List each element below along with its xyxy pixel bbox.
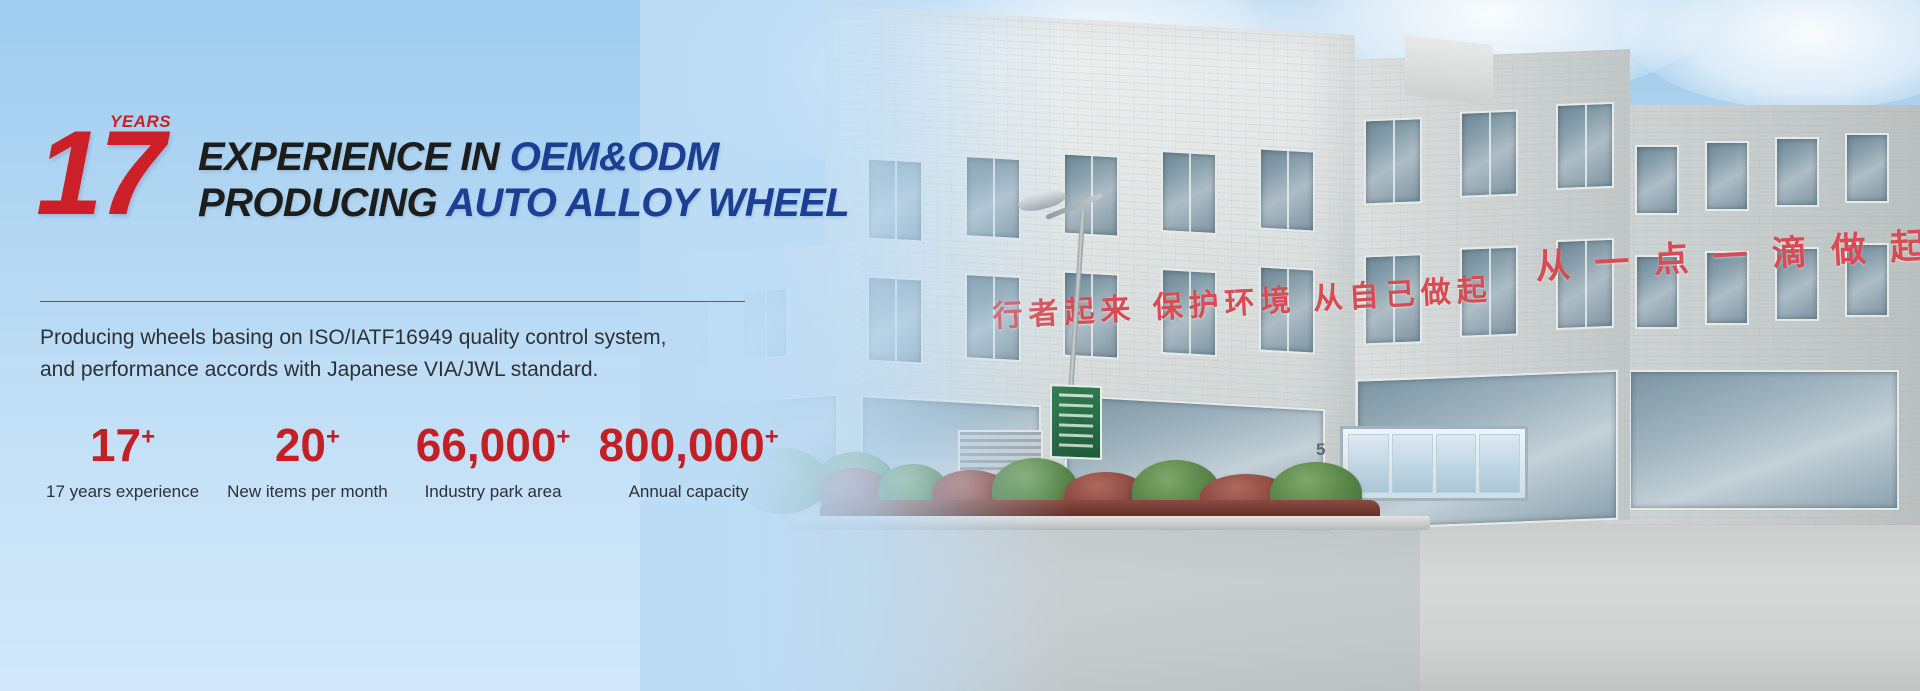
description-text: Producing wheels basing on ISO/IATF16949… [40, 322, 666, 385]
roof-structure [1405, 35, 1493, 105]
window [1845, 133, 1889, 203]
years-number: 17 [36, 118, 161, 228]
window [1775, 137, 1819, 207]
window [1635, 145, 1679, 215]
notice-panel [1479, 434, 1520, 493]
headline-line-2: PRODUCING AUTO ALLOY WHEEL [198, 180, 849, 226]
stat-number: 66,000 [416, 419, 557, 471]
stat-number: 800,000 [598, 419, 764, 471]
stat-number: 20 [275, 419, 326, 471]
stat-item: 800,000+ Annual capacity [584, 422, 792, 502]
stat-suffix: + [556, 424, 570, 451]
stat-label: 17 years experience [46, 482, 199, 502]
promo-banner: 行者起来 保护环境 从自己做起 从 一 点 一 滴 做 起 5 [0, 0, 1920, 691]
banner-content: YEARS 17 EXPERIENCE IN OEM&ODM PRODUCING… [0, 0, 820, 691]
stat-value: 17+ [46, 422, 199, 468]
stat-suffix: + [141, 424, 155, 451]
green-wall-sign [1050, 384, 1102, 460]
headline-line-1-blue: OEM&ODM [510, 135, 719, 179]
stat-label: New items per month [227, 482, 388, 502]
stat-item: 66,000+ Industry park area [402, 422, 585, 502]
stat-item: 17+ 17 years experience [32, 422, 213, 502]
divider-rule [40, 301, 745, 302]
kerb-edge [790, 516, 1430, 530]
stat-suffix: + [326, 424, 340, 451]
window [1161, 150, 1217, 235]
headline-line-2-blue: AUTO ALLOY WHEEL [446, 181, 849, 225]
stat-number: 17 [90, 419, 141, 471]
headline-line-2-dark: PRODUCING [198, 181, 437, 225]
stat-label: Annual capacity [598, 482, 778, 502]
stat-suffix: + [765, 424, 779, 451]
window [1705, 141, 1749, 211]
description-line-1: Producing wheels basing on ISO/IATF16949… [40, 322, 666, 354]
window [1259, 147, 1315, 232]
window [1364, 117, 1422, 205]
description-line-2: and performance accords with Japanese VI… [40, 354, 666, 386]
window [867, 276, 923, 365]
building-far [1605, 105, 1920, 525]
headline-lines: EXPERIENCE IN OEM&ODM PRODUCING AUTO ALL… [198, 104, 849, 226]
stat-item: 20+ New items per month [213, 422, 402, 502]
door-number-label: 5 [1316, 440, 1325, 460]
window [867, 158, 923, 243]
notice-board [1340, 426, 1528, 501]
stats-row: 17+ 17 years experience 20+ New items pe… [32, 422, 793, 502]
headline-block: YEARS 17 EXPERIENCE IN OEM&ODM PRODUCING… [40, 104, 849, 226]
notice-panel [1392, 434, 1433, 493]
window [1460, 110, 1518, 198]
window [1556, 102, 1614, 190]
stat-label: Industry park area [416, 482, 571, 502]
stat-value: 20+ [227, 422, 388, 468]
headline-line-1: EXPERIENCE IN OEM&ODM [198, 134, 849, 180]
window [1063, 152, 1119, 237]
headline-line-1-dark: EXPERIENCE IN [198, 135, 499, 179]
window-glass-wall [1629, 370, 1899, 510]
window [965, 155, 1021, 240]
stat-value: 800,000+ [598, 422, 778, 468]
stat-value: 66,000+ [416, 422, 571, 468]
notice-panel [1436, 434, 1477, 493]
